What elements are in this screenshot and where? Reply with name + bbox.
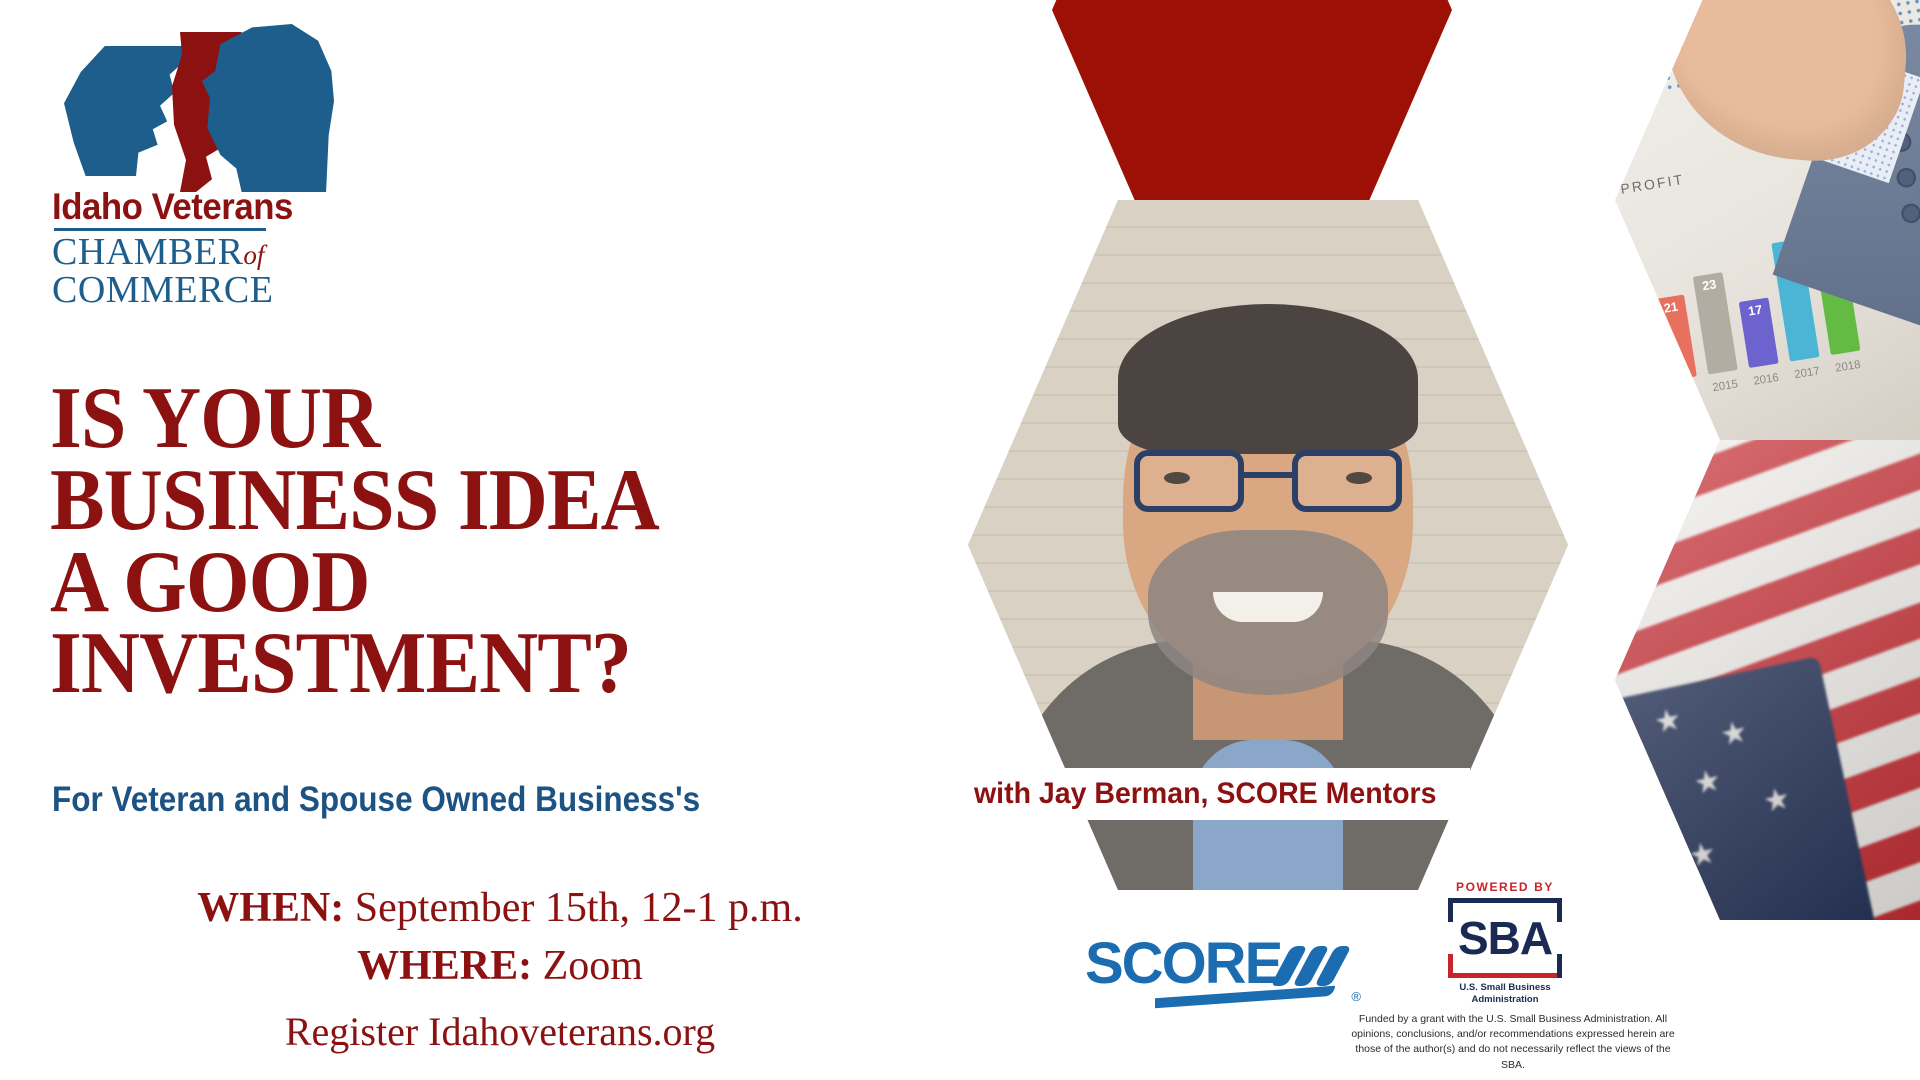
- headline-line-1: IS YOUR: [50, 378, 887, 460]
- sba-frame-icon: SBA: [1430, 898, 1580, 978]
- american-flag-hexagon: ★ ★ ★ ★ ★ ★ ★ ★: [1615, 440, 1920, 920]
- business-infographic-hexagon: PROFIT 21 232015 172016 252017 302018: [1615, 0, 1920, 440]
- event-details: WHEN: September 15th, 12-1 p.m. WHERE: Z…: [0, 880, 1000, 1055]
- logo-org-name: Idaho Veterans: [52, 188, 315, 225]
- logo-wordmark: Idaho Veterans CHAMBERof COMMERCE: [52, 188, 332, 309]
- soldier-helmet-profile-icon: [202, 24, 334, 192]
- speaker-name: with Jay Berman, SCORE Mentors: [974, 777, 1436, 811]
- subheadline: For Veteran and Spouse Owned Business's: [52, 780, 700, 820]
- sba-powered-by-label: POWERED BY: [1420, 880, 1590, 894]
- register-link[interactable]: Register Idahoveterans.org: [0, 1008, 1000, 1055]
- sba-letters: SBA: [1430, 910, 1580, 966]
- logo-mark: [52, 22, 302, 182]
- where-label: WHERE:: [357, 943, 532, 989]
- headline-line-4: INVESTMENT?: [50, 623, 887, 705]
- headline-line-2: BUSINESS IDEA: [50, 460, 887, 542]
- logo-chamber-line: CHAMBERof: [52, 233, 332, 271]
- chamber-logo: Idaho Veterans CHAMBERof COMMERCE: [52, 22, 332, 292]
- sba-logo: POWERED BY SBA U.S. Small BusinessAdmini…: [1420, 880, 1590, 1020]
- score-logo: SCORE ®: [1085, 930, 1355, 1010]
- eyeglasses-icon: [1134, 450, 1402, 512]
- headline-line-3: A GOOD: [50, 542, 887, 624]
- sba-disclaimer: Funded by a grant with the U.S. Small Bu…: [1348, 1012, 1678, 1073]
- idaho-profile-icon: [64, 46, 184, 176]
- registered-trademark: ®: [1351, 989, 1361, 1004]
- promotional-flyer: PROFIT 21 232015 172016 252017 302018 ★ …: [0, 0, 1920, 1080]
- logo-commerce-line: COMMERCE: [52, 271, 332, 309]
- event-when-row: WHEN: September 15th, 12-1 p.m.: [0, 880, 1000, 938]
- sba-caption: U.S. Small BusinessAdministration: [1420, 982, 1590, 1006]
- headline-block: IS YOUR BUSINESS IDEA A GOOD INVESTMENT?: [50, 378, 950, 705]
- portrait-smile: [1213, 592, 1323, 622]
- speaker-banner: with Jay Berman, SCORE Mentors: [960, 768, 1470, 820]
- when-value: September 15th, 12-1 p.m.: [355, 885, 803, 931]
- portrait-hair: [1118, 304, 1418, 454]
- when-label: WHEN:: [197, 885, 344, 931]
- where-value: Zoom: [543, 943, 643, 989]
- score-wordmark: SCORE: [1085, 931, 1281, 996]
- event-where-row: WHERE: Zoom: [0, 938, 1000, 996]
